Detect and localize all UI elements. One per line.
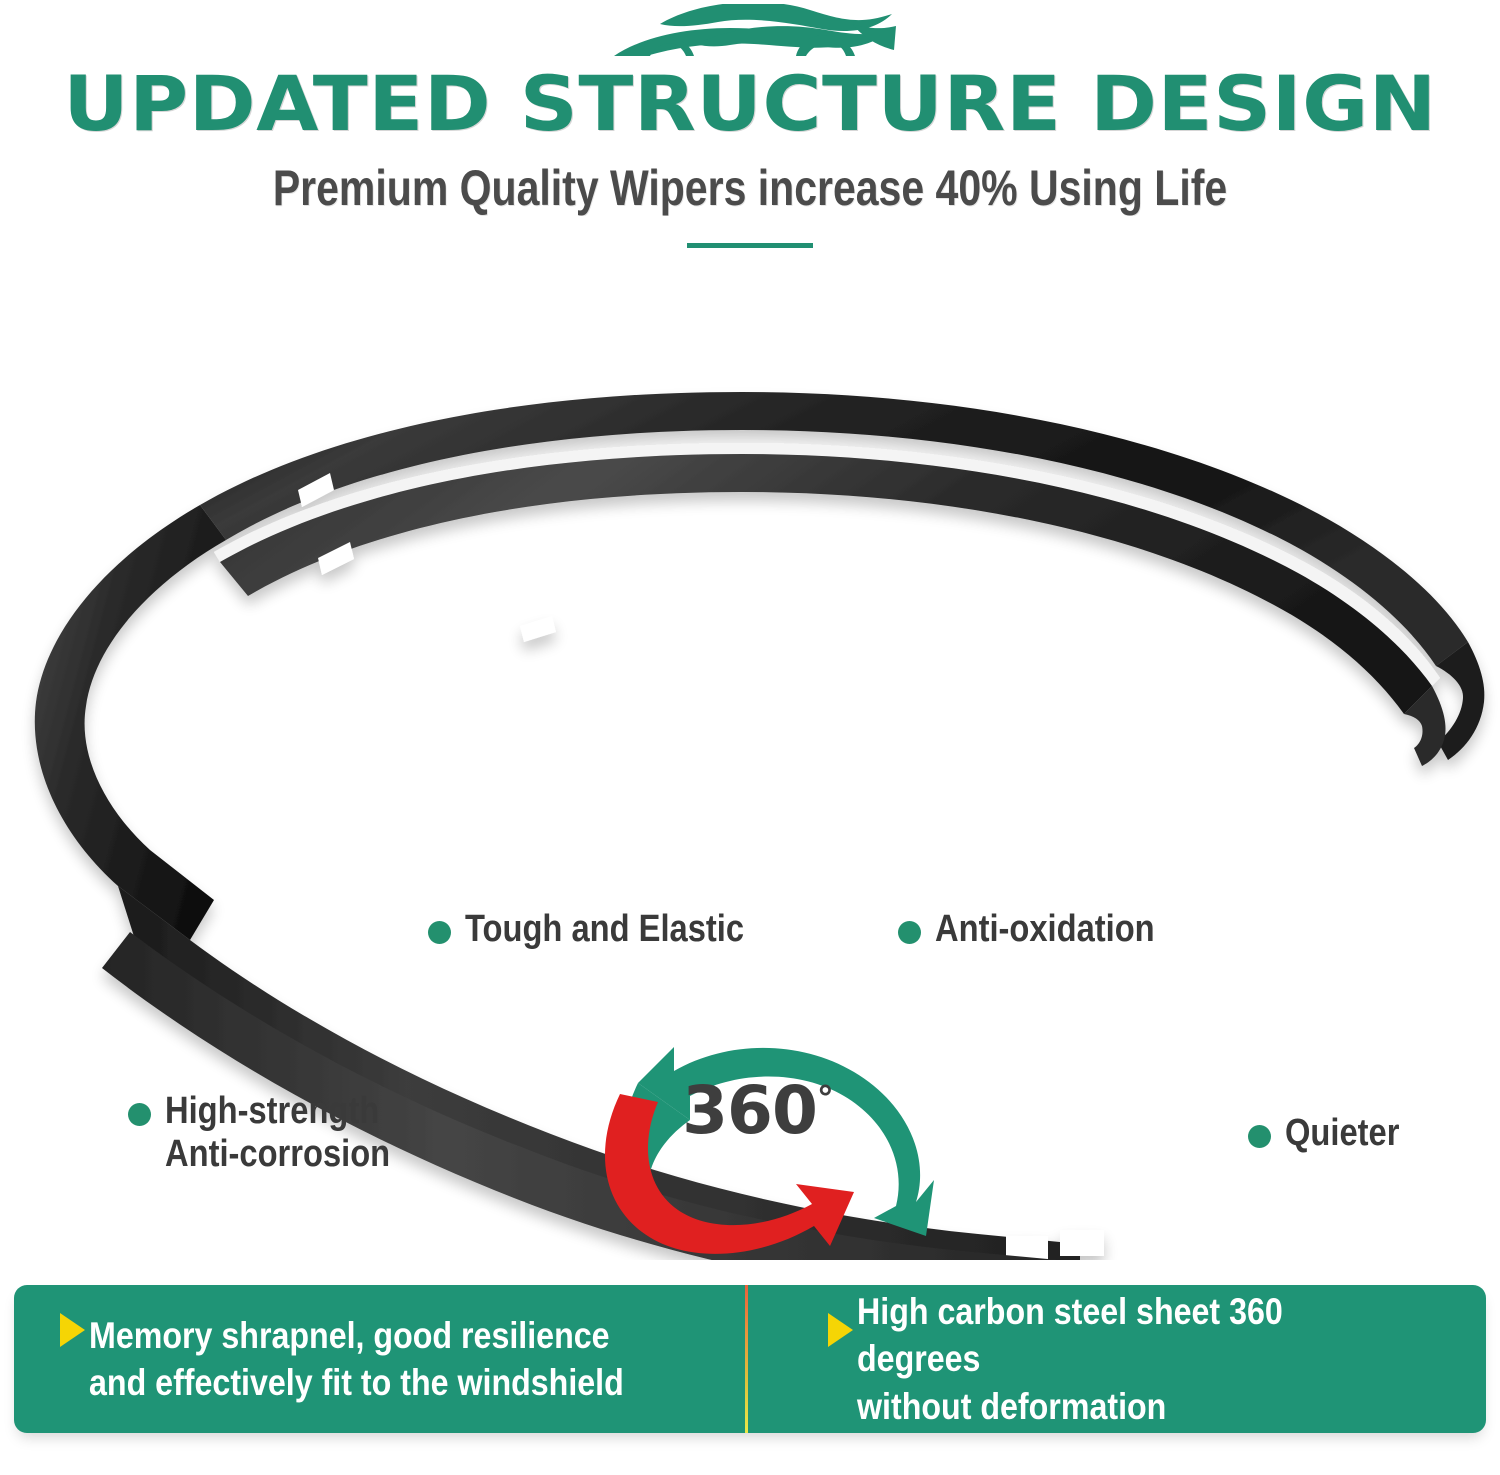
feature-quieter: Quieter	[1248, 1112, 1418, 1155]
feature-anti-oxidation: Anti-oxidation	[898, 908, 1190, 951]
banner-panel-high-carbon-steel: High carbon steel sheet 360 degrees with…	[750, 1285, 1486, 1433]
banner-panel-text: Memory shrapnel, good resilience and eff…	[89, 1312, 624, 1407]
title-divider	[687, 243, 813, 248]
bullet-dot-icon	[128, 1103, 151, 1126]
feature-label-text: High-strength Anti-corrosion	[165, 1090, 390, 1175]
bottom-feature-banner: Memory shrapnel, good resilience and eff…	[14, 1285, 1486, 1433]
feature-label-text: Quieter	[1285, 1112, 1399, 1155]
rotation-arrows-icon	[578, 1020, 938, 1255]
car-silhouette-icon	[600, 4, 900, 64]
bullet-dot-icon	[1248, 1125, 1271, 1148]
banner-divider	[745, 1285, 748, 1433]
feature-label-text: Anti-oxidation	[935, 908, 1155, 951]
feature-label-text: Tough and Elastic	[465, 908, 744, 951]
header: UPDATED STRUCTURE DESIGN Premium Quality…	[0, 0, 1500, 248]
triangle-right-icon	[828, 1313, 853, 1347]
triangle-right-icon	[60, 1313, 85, 1347]
feature-tough-elastic: Tough and Elastic	[428, 908, 789, 951]
feature-high-strength-anti-corrosion: High-strength Anti-corrosion	[128, 1090, 427, 1175]
page-title: UPDATED STRUCTURE DESIGN	[0, 66, 1500, 142]
page-subtitle: Premium Quality Wipers increase 40% Usin…	[135, 162, 1365, 215]
banner-panel-text: High carbon steel sheet 360 degrees with…	[857, 1288, 1404, 1430]
badge-360-degree: 360°	[578, 1020, 938, 1255]
bullet-dot-icon	[898, 921, 921, 944]
product-image-area: Tough and Elastic Anti-oxidation High-st…	[0, 330, 1500, 1260]
banner-panel-memory-shrapnel: Memory shrapnel, good resilience and eff…	[14, 1285, 750, 1433]
bullet-dot-icon	[428, 921, 451, 944]
